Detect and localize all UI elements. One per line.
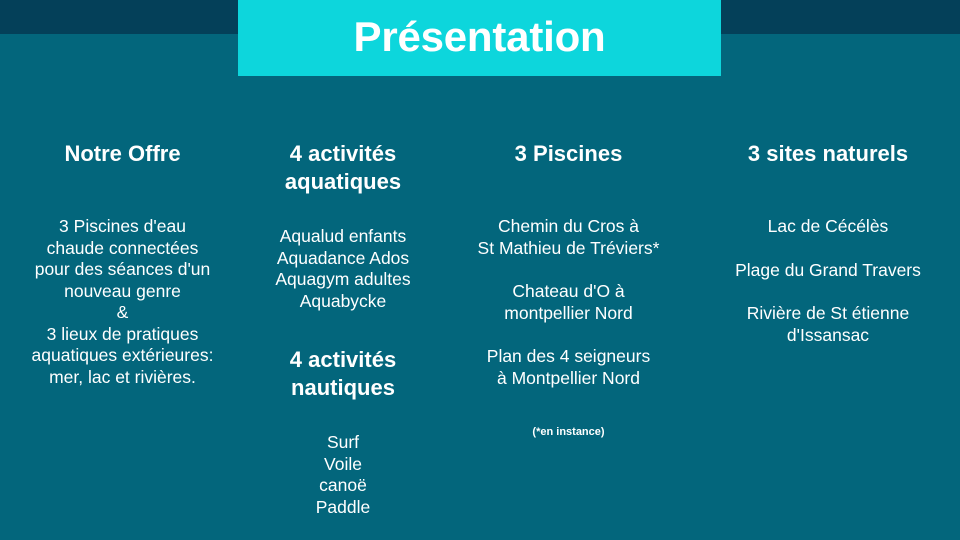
site-entry-line: Lac de Cécélès [706,216,950,238]
piscine-entry-line: Chateau d'O à [449,281,688,303]
site-entry-line: Rivière de St étienne [706,303,950,325]
spacer [706,281,950,303]
spacer [706,238,950,260]
presentation-slide: Présentation Notre Offre 3 Piscines d'ea… [0,0,960,540]
column-1-line-2: chaude connectées [14,238,231,260]
site-entry-line: d'Issansac [706,325,950,347]
columns-container: Notre Offre 3 Piscines d'eau chaude conn… [0,140,960,518]
list-item: canoë [251,475,435,497]
site-entry: Rivière de St étienne d'Issansac [706,303,950,346]
piscine-entry: Chateau d'O à montpellier Nord [449,281,688,324]
column-2-heading-line-2: aquatiques [251,168,435,196]
column-sites-naturels: 3 sites naturels Lac de Cécélès Plage du… [696,140,960,346]
piscine-entry-line: St Mathieu de Tréviers* [449,238,688,260]
piscine-entry-line: Chemin du Cros à [449,216,688,238]
spacer [251,196,435,226]
column-4-heading: 3 sites naturels [706,140,950,168]
list-item: Aquagym adultes [251,269,435,291]
column-3-footnote: (*en instance) [449,425,688,439]
list-item: Paddle [251,497,435,519]
list-item: Aqualud enfants [251,226,435,248]
column-2-heading-nautiques: 4 activités nautiques [251,346,435,402]
column-piscines: 3 Piscines Chemin du Cros à St Mathieu d… [441,140,696,439]
slide-title: Présentation [354,16,606,58]
spacer [706,168,950,216]
list-item: Aquabycke [251,291,435,313]
column-activites: 4 activités aquatiques Aqualud enfants A… [245,140,441,518]
column-notre-offre: Notre Offre 3 Piscines d'eau chaude conn… [0,140,245,388]
list-item: Voile [251,454,435,476]
column-1-line-4: nouveau genre [14,281,231,303]
column-1-line-1: 3 Piscines d'eau [14,216,231,238]
piscine-entry: Chemin du Cros à St Mathieu de Tréviers* [449,216,688,259]
column-1-line-7: aquatiques extérieures: [14,345,231,367]
site-entry: Plage du Grand Travers [706,260,950,282]
column-2-heading-line-1: 4 activités [251,140,435,168]
spacer [449,389,688,425]
column-1-line-8: mer, lac et rivières. [14,367,231,389]
column-2-heading2-line-2: nautiques [251,374,435,402]
spacer [449,324,688,346]
site-entry-line: Plage du Grand Travers [706,260,950,282]
piscine-entry-line: Plan des 4 seigneurs [449,346,688,368]
column-1-line-5: & [14,302,231,324]
piscine-entry-line: à Montpellier Nord [449,368,688,390]
piscine-entry: Plan des 4 seigneurs à Montpellier Nord [449,346,688,389]
column-1-body: 3 Piscines d'eau chaude connectées pour … [14,216,231,388]
list-item: Surf [251,432,435,454]
spacer [251,312,435,346]
column-2-heading-aquatiques: 4 activités aquatiques [251,140,435,196]
list-item: Aquadance Ados [251,248,435,270]
spacer [251,402,435,432]
column-1-heading: Notre Offre [14,140,231,168]
column-1-line-3: pour des séances d'un [14,259,231,281]
spacer [449,168,688,216]
column-2-list-aquatiques: Aqualud enfants Aquadance Ados Aquagym a… [251,226,435,312]
piscine-entry-line: montpellier Nord [449,303,688,325]
site-entry: Lac de Cécélès [706,216,950,238]
spacer [449,259,688,281]
column-3-heading: 3 Piscines [449,140,688,168]
column-2-heading2-line-1: 4 activités [251,346,435,374]
column-2-list-nautiques: Surf Voile canoë Paddle [251,432,435,518]
column-1-line-6: 3 lieux de pratiques [14,324,231,346]
spacer [14,168,231,216]
title-banner: Présentation [238,0,721,76]
